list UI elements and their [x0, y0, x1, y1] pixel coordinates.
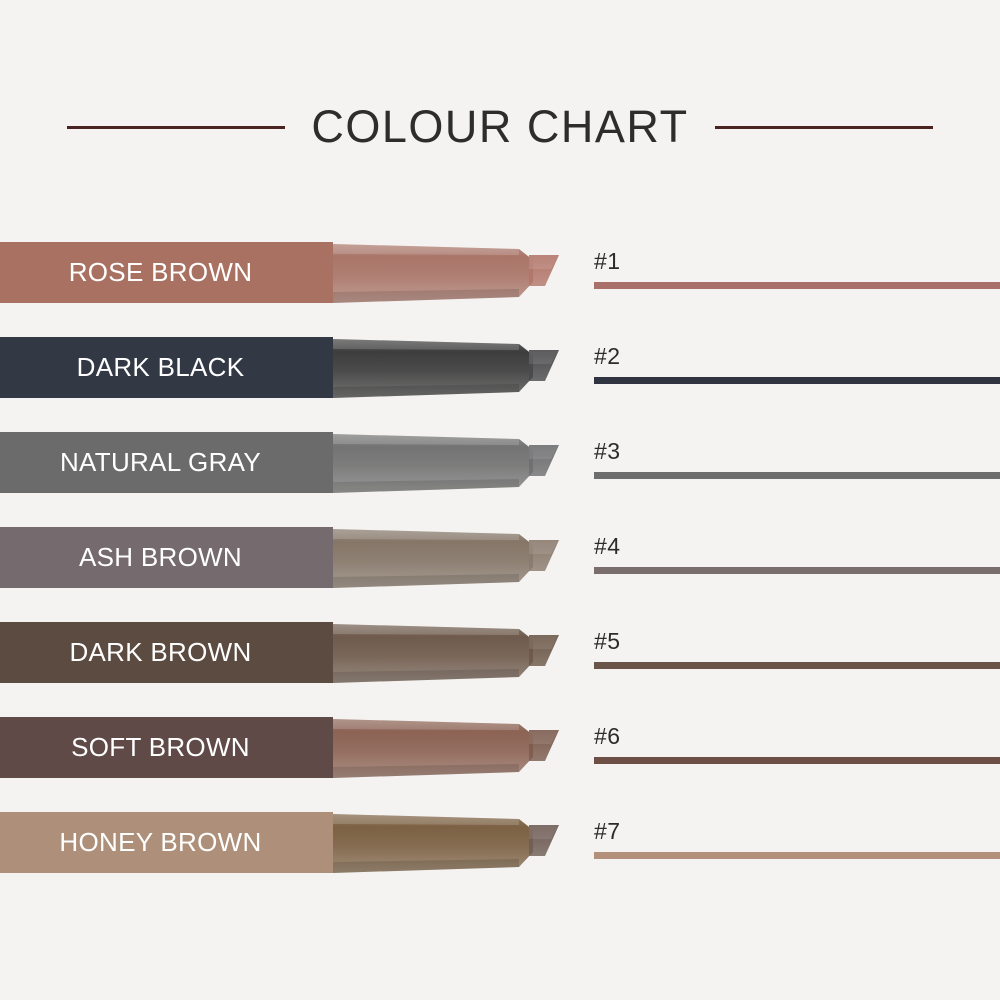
shade-number: #1 — [594, 250, 1000, 273]
colour-name-bar[interactable]: ROSE BROWN — [0, 242, 333, 303]
eyebrow-pencil-illustration — [333, 812, 581, 882]
colour-row: HONEY BROWN#7 — [0, 812, 1000, 907]
shade-swatch-group[interactable]: #5 — [594, 630, 1000, 669]
eyebrow-pencil-illustration — [333, 337, 581, 407]
eyebrow-pencil-illustration — [333, 527, 581, 597]
shade-swatch-line — [594, 472, 1000, 479]
colour-name-bar[interactable]: DARK BROWN — [0, 622, 333, 683]
shade-number: #2 — [594, 345, 1000, 368]
colour-name-label: SOFT BROWN — [71, 732, 250, 763]
colour-name-bar[interactable]: HONEY BROWN — [0, 812, 333, 873]
colour-row: DARK BLACK#2 — [0, 337, 1000, 432]
title-block: COLOUR CHART — [0, 96, 1000, 158]
colour-name-bar[interactable]: DARK BLACK — [0, 337, 333, 398]
shade-swatch-line — [594, 852, 1000, 859]
shade-swatch-group[interactable]: #4 — [594, 535, 1000, 574]
colour-name-label: ASH BROWN — [79, 542, 242, 573]
colour-name-bar[interactable]: ASH BROWN — [0, 527, 333, 588]
shade-swatch-line — [594, 757, 1000, 764]
page-title: COLOUR CHART — [311, 101, 688, 153]
shade-number: #7 — [594, 820, 1000, 843]
shade-swatch-group[interactable]: #3 — [594, 440, 1000, 479]
colour-row: SOFT BROWN#6 — [0, 717, 1000, 812]
shade-swatch-group[interactable]: #2 — [594, 345, 1000, 384]
colour-name-label: HONEY BROWN — [59, 827, 261, 858]
eyebrow-pencil-illustration — [333, 717, 581, 787]
shade-swatch-line — [594, 567, 1000, 574]
colour-row: NATURAL GRAY#3 — [0, 432, 1000, 527]
title-rule-right — [715, 126, 933, 129]
colour-row-list: ROSE BROWN#1DARK BLACK#2NATURAL GRAY#3AS… — [0, 242, 1000, 907]
shade-number: #6 — [594, 725, 1000, 748]
shade-swatch-group[interactable]: #7 — [594, 820, 1000, 859]
colour-name-label: DARK BROWN — [69, 637, 251, 668]
colour-name-bar[interactable]: NATURAL GRAY — [0, 432, 333, 493]
shade-swatch-line — [594, 377, 1000, 384]
colour-name-bar[interactable]: SOFT BROWN — [0, 717, 333, 778]
shade-swatch-line — [594, 662, 1000, 669]
shade-swatch-group[interactable]: #1 — [594, 250, 1000, 289]
title-rule-left — [67, 126, 285, 129]
colour-name-label: ROSE BROWN — [69, 257, 253, 288]
colour-row: ROSE BROWN#1 — [0, 242, 1000, 337]
shade-swatch-line — [594, 282, 1000, 289]
eyebrow-pencil-illustration — [333, 242, 581, 312]
shade-number: #4 — [594, 535, 1000, 558]
eyebrow-pencil-illustration — [333, 432, 581, 502]
colour-name-label: NATURAL GRAY — [60, 447, 261, 478]
colour-row: DARK BROWN#5 — [0, 622, 1000, 717]
colour-row: ASH BROWN#4 — [0, 527, 1000, 622]
shade-number: #3 — [594, 440, 1000, 463]
shade-swatch-group[interactable]: #6 — [594, 725, 1000, 764]
colour-name-label: DARK BLACK — [77, 352, 245, 383]
colour-chart-page: COLOUR CHART ROSE BROWN#1DARK BLACK#2NAT… — [0, 0, 1000, 1000]
shade-number: #5 — [594, 630, 1000, 653]
eyebrow-pencil-illustration — [333, 622, 581, 692]
